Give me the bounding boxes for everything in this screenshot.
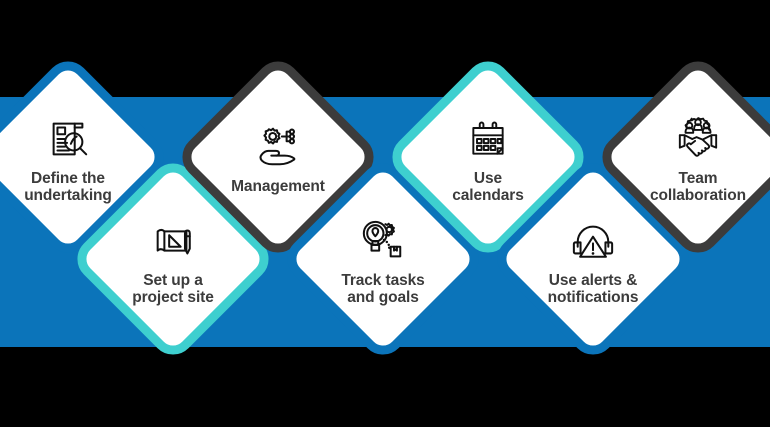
- node-label: Use calendars: [452, 170, 523, 205]
- node-label: Use alerts & notifications: [548, 272, 639, 307]
- node-label: Team collaboration: [650, 170, 746, 205]
- hand-gear-network-icon: [252, 122, 304, 172]
- magnifier-pin-gear-box-icon: [357, 216, 409, 266]
- node-label: Track tasks and goals: [341, 272, 424, 307]
- calendar-icon: [462, 114, 514, 164]
- headphones-alert-icon: [567, 216, 619, 266]
- infographic-canvas: Define the undertaking Set up a project …: [0, 0, 770, 427]
- node-label: Set up a project site: [132, 272, 214, 307]
- document-magnifier-icon: [42, 114, 94, 164]
- blueprint-ruler-pencil-icon: [147, 216, 199, 266]
- handshake-team-gear-icon: [672, 114, 724, 164]
